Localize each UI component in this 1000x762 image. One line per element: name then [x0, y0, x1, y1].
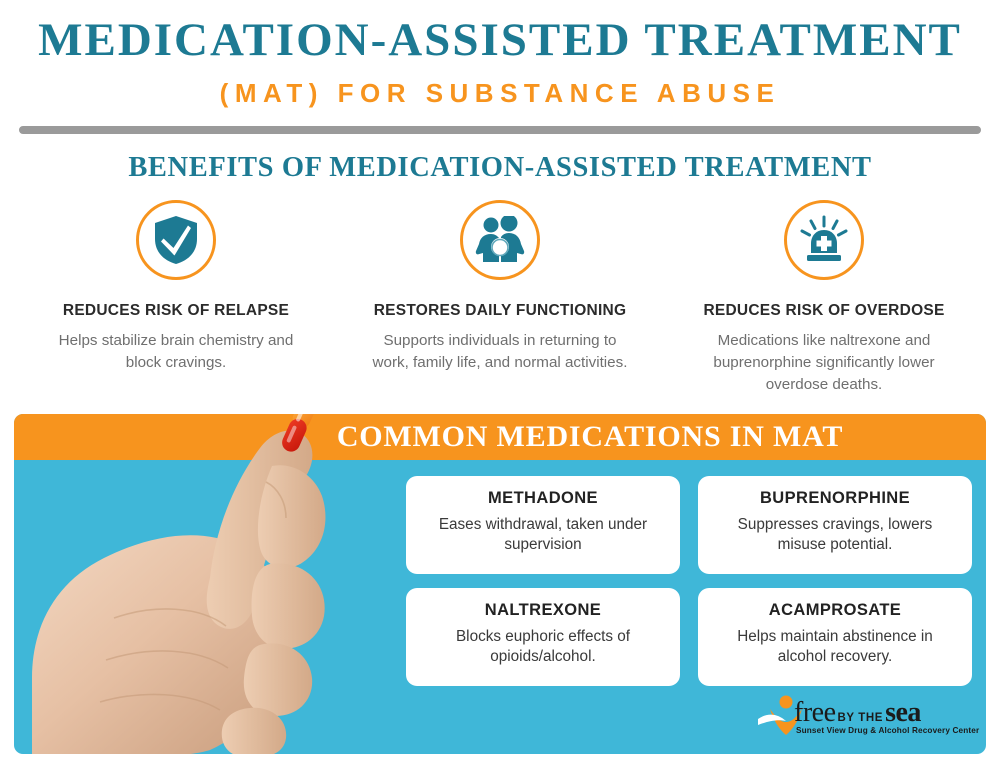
- medication-cards-grid: METHADONE Eases withdrawal, taken under …: [406, 476, 972, 686]
- page-subtitle: (MAT) FOR SUBSTANCE ABUSE: [0, 78, 1000, 109]
- logo-wordmark: free BY THE sea: [794, 697, 921, 729]
- benefit-description: Helps stabilize brain chemistry and bloc…: [42, 330, 310, 373]
- benefit-icon-frame: [784, 200, 864, 280]
- page-title: MEDICATION-ASSISTED TREATMENT: [0, 16, 1000, 65]
- benefit-description: Medications like naltrexone and buprenor…: [690, 330, 958, 395]
- shield-check-icon: [153, 215, 199, 265]
- benefit-item-relapse: REDUCES RISK OF RELAPSE Helps stabilize …: [14, 200, 338, 395]
- benefit-title: REDUCES RISK OF RELAPSE: [63, 302, 289, 320]
- benefit-icon-frame: [136, 200, 216, 280]
- benefit-title: REDUCES RISK OF OVERDOSE: [703, 302, 944, 320]
- medication-name: METHADONE: [420, 489, 666, 508]
- benefit-item-overdose: REDUCES RISK OF OVERDOSE Medications lik…: [662, 200, 986, 395]
- hand-holding-capsule-image: [14, 414, 406, 754]
- two-people-icon: [474, 216, 526, 264]
- logo-word-bythe: BY THE: [836, 712, 886, 724]
- medication-card: NALTREXONE Blocks euphoric effects of op…: [406, 588, 680, 686]
- benefits-heading: BENEFITS OF MEDICATION-ASSISTED TREATMEN…: [0, 152, 1000, 184]
- benefit-icon-frame: [460, 200, 540, 280]
- benefit-item-daily-functioning: RESTORES DAILY FUNCTIONING Supports indi…: [338, 200, 662, 395]
- medication-description: Helps maintain abstinence in alcohol rec…: [712, 627, 958, 668]
- medication-name: NALTREXONE: [420, 601, 666, 620]
- benefit-title: RESTORES DAILY FUNCTIONING: [374, 302, 627, 320]
- medication-card: METHADONE Eases withdrawal, taken under …: [406, 476, 680, 574]
- medication-name: BUPRENORPHINE: [712, 489, 958, 508]
- medication-description: Blocks euphoric effects of opioids/alcoh…: [420, 627, 666, 668]
- logo-tagline: Sunset View Drug & Alcohol Recovery Cent…: [796, 726, 979, 735]
- header-divider: [19, 126, 981, 134]
- benefits-row: REDUCES RISK OF RELAPSE Helps stabilize …: [0, 200, 1000, 395]
- infographic-page: MEDICATION-ASSISTED TREATMENT (MAT) FOR …: [0, 0, 1000, 762]
- medication-description: Eases withdrawal, taken under supervisio…: [420, 515, 666, 556]
- brand-logo[interactable]: free BY THE sea Sunset View Drug & Alcoh…: [756, 692, 952, 742]
- logo-word-sea: sea: [885, 697, 921, 729]
- logo-word-free: free: [794, 697, 836, 729]
- emergency-siren-icon: [798, 215, 850, 265]
- common-medications-panel: COMMON MEDICATIONS IN MAT METHADONE Ease…: [14, 414, 986, 754]
- medication-card: ACAMPROSATE Helps maintain abstinence in…: [698, 588, 972, 686]
- panel-banner: COMMON MEDICATIONS IN MAT: [14, 414, 986, 460]
- benefit-description: Supports individuals in returning to wor…: [366, 330, 634, 373]
- panel-banner-title: COMMON MEDICATIONS IN MAT: [157, 420, 843, 454]
- header: MEDICATION-ASSISTED TREATMENT (MAT) FOR …: [0, 0, 1000, 134]
- medication-card: BUPRENORPHINE Suppresses cravings, lower…: [698, 476, 972, 574]
- medication-description: Suppresses cravings, lowers misuse poten…: [712, 515, 958, 556]
- medication-name: ACAMPROSATE: [712, 601, 958, 620]
